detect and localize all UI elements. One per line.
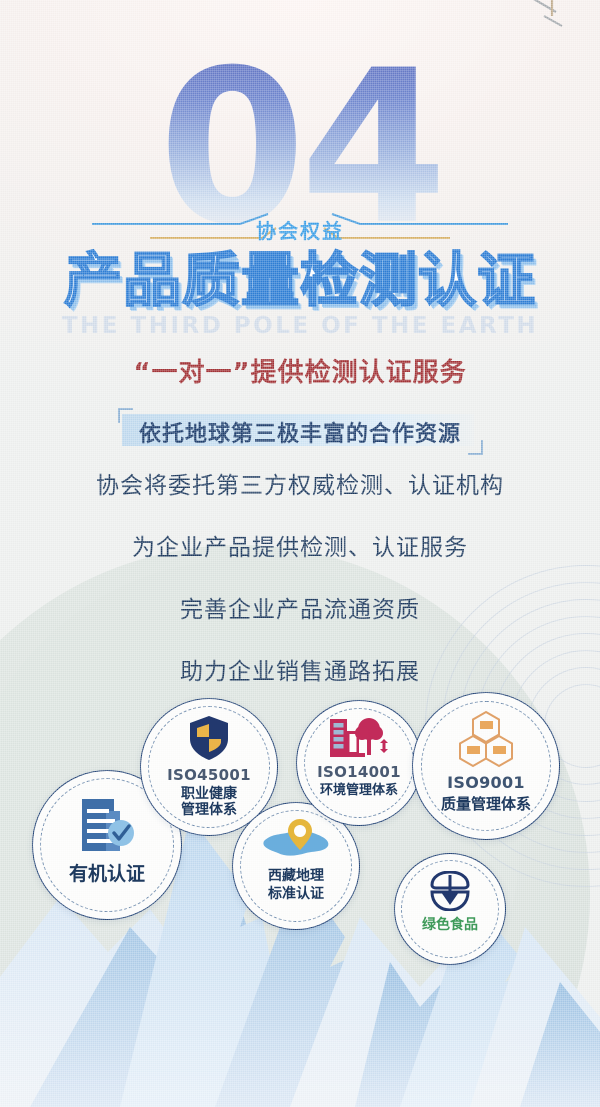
poster-canvas: 04 协会权益 THE THIRD POLE OF THE EARTH 产品质量… [0,0,600,1107]
page-title: 产品质量检测认证 [0,251,600,309]
badge-label: 职业健康 [181,787,237,803]
badge-code: ISO9001 [447,774,525,792]
body-line: 完善企业产品流通资质 [0,590,600,624]
badge-iso9001[interactable]: ISO9001 质量管理体系 [412,692,560,840]
badge-label: 环境管理体系 [320,784,398,799]
badge-label-2: 管理体系 [181,803,237,819]
section-label: 协会权益 [0,215,600,244]
shield-icon [188,715,230,761]
badge-green-food[interactable]: 绿色食品 [394,853,506,965]
subtitle: “一对一”提供检测认证服务 [0,352,600,389]
map-pin-icon [258,819,334,863]
badge-code: ISO45001 [167,767,251,784]
section-divider: 协会权益 [0,212,600,250]
top-right-decoration-icon [522,0,582,36]
highlight-banner: 依托地球第三极丰富的合作资源 [0,404,600,456]
green-food-icon [428,871,472,911]
badge-label: 绿色食品 [422,918,478,934]
badge-label: 西藏地理 [268,869,324,885]
badge-iso14001[interactable]: ISO14001 环境管理体系 [296,700,422,826]
badge-label: 有机认证 [69,864,145,885]
highlight-text: 依托地球第三极丰富的合作资源 [0,416,600,448]
badge-label-2: 标准认证 [268,887,324,903]
body-line: 协会将委托第三方权威检测、认证机构 [0,466,600,500]
badge-code: ISO14001 [317,764,401,781]
document-check-icon [76,797,138,855]
building-tree-icon [328,715,390,759]
body-text-block: 协会将委托第三方权威检测、认证机构 为企业产品提供检测、认证服务 完善企业产品流… [0,466,600,714]
body-line: 为企业产品提供检测、认证服务 [0,528,600,562]
body-line: 助力企业销售通路拓展 [0,652,600,686]
badge-label: 质量管理体系 [441,796,531,813]
hexagons-icon [454,710,518,768]
english-title: THE THIRD POLE OF THE EARTH [0,313,600,339]
